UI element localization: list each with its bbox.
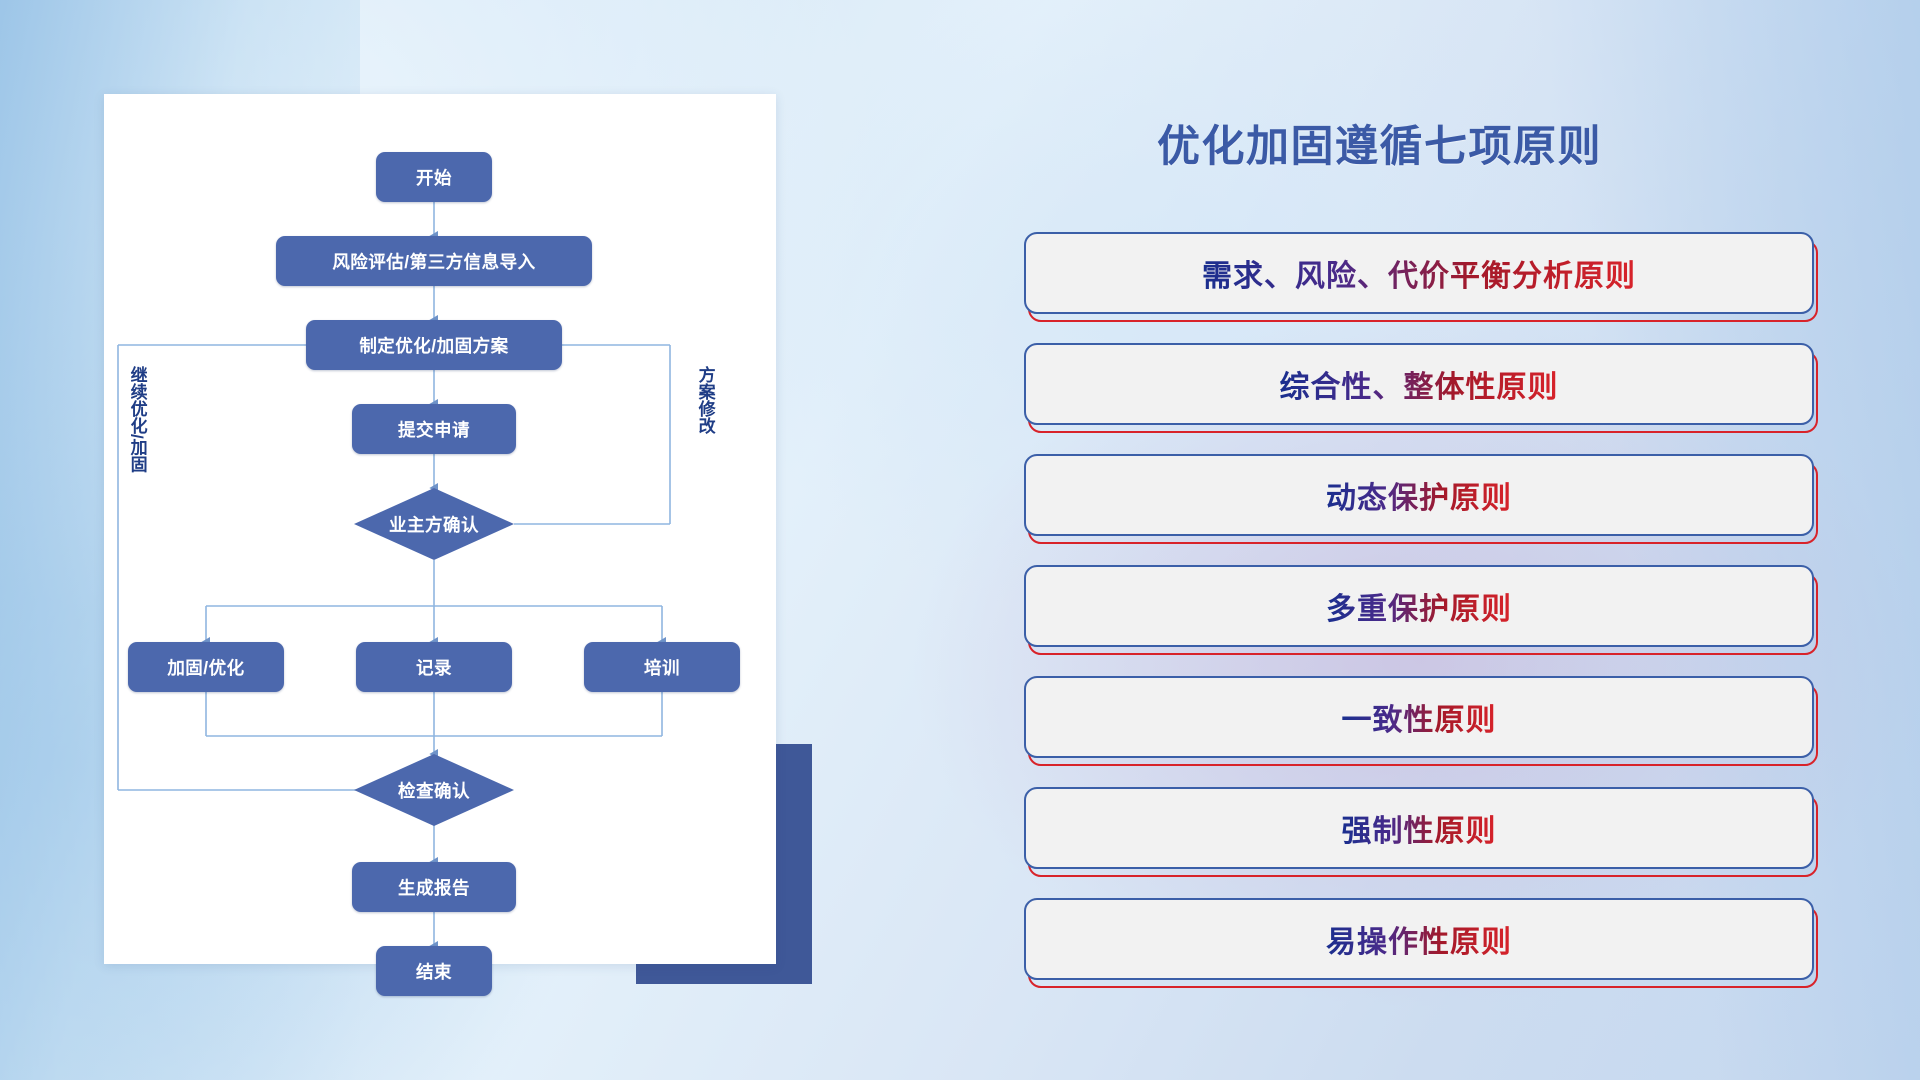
- flow-node-submit-application[interactable]: 提交申请: [352, 404, 516, 454]
- principle-label: 动态保护原则: [1326, 473, 1512, 517]
- flow-node-reinforce[interactable]: 加固/优化: [128, 642, 284, 692]
- principle-label: 多重保护原则: [1326, 584, 1512, 628]
- principle-card[interactable]: 动态保护原则: [1024, 454, 1814, 536]
- principle-item[interactable]: 动态保护原则: [1024, 454, 1816, 540]
- flow-node-check-confirm[interactable]: 检查确认: [354, 754, 514, 826]
- flowchart-panel: 开始 风险评估/第三方信息导入 制定优化/加固方案 提交申请 业主方确认 加固/…: [104, 94, 776, 964]
- page-title: 优化加固遵循七项原则: [1157, 112, 1857, 174]
- flow-node-plan[interactable]: 制定优化/加固方案: [306, 320, 562, 370]
- principle-label: 一致性原则: [1342, 695, 1497, 739]
- principle-card[interactable]: 强制性原则: [1024, 787, 1814, 869]
- principle-card[interactable]: 易操作性原则: [1024, 898, 1814, 980]
- principle-card[interactable]: 综合性、整体性原则: [1024, 343, 1814, 425]
- principle-item[interactable]: 需求、风险、代价平衡分析原则: [1024, 232, 1816, 318]
- principle-card[interactable]: 一致性原则: [1024, 676, 1814, 758]
- principle-card[interactable]: 需求、风险、代价平衡分析原则: [1024, 232, 1814, 314]
- principle-label: 综合性、整体性原则: [1280, 362, 1559, 406]
- flow-node-record[interactable]: 记录: [356, 642, 512, 692]
- flow-node-generate-report[interactable]: 生成报告: [352, 862, 516, 912]
- principle-label: 易操作性原则: [1326, 917, 1512, 961]
- principle-card[interactable]: 多重保护原则: [1024, 565, 1814, 647]
- flow-node-check-confirm-label: 检查确认: [354, 754, 514, 826]
- flow-node-end[interactable]: 结束: [376, 946, 492, 996]
- principle-item[interactable]: 多重保护原则: [1024, 565, 1816, 651]
- principles-list: 需求、风险、代价平衡分析原则 综合性、整体性原则 动态保护原则 多重保护原则 一: [1024, 232, 1816, 1009]
- flow-node-training[interactable]: 培训: [584, 642, 740, 692]
- flow-node-owner-confirm[interactable]: 业主方确认: [354, 488, 514, 560]
- edge-label-continue-optimize: 继续优化/加固: [128, 366, 146, 546]
- principle-label: 强制性原则: [1342, 806, 1497, 850]
- principle-item[interactable]: 综合性、整体性原则: [1024, 343, 1816, 429]
- principle-label: 需求、风险、代价平衡分析原则: [1202, 251, 1636, 295]
- flow-node-owner-confirm-label: 业主方确认: [354, 488, 514, 560]
- principle-item[interactable]: 强制性原则: [1024, 787, 1816, 873]
- principle-item[interactable]: 一致性原则: [1024, 676, 1816, 762]
- edge-label-plan-revision: 方案修改: [696, 366, 714, 516]
- flow-node-start[interactable]: 开始: [376, 152, 492, 202]
- slide-root: 开始 风险评估/第三方信息导入 制定优化/加固方案 提交申请 业主方确认 加固/…: [0, 0, 1920, 1080]
- flow-node-risk-assessment[interactable]: 风险评估/第三方信息导入: [276, 236, 592, 286]
- principle-item[interactable]: 易操作性原则: [1024, 898, 1816, 984]
